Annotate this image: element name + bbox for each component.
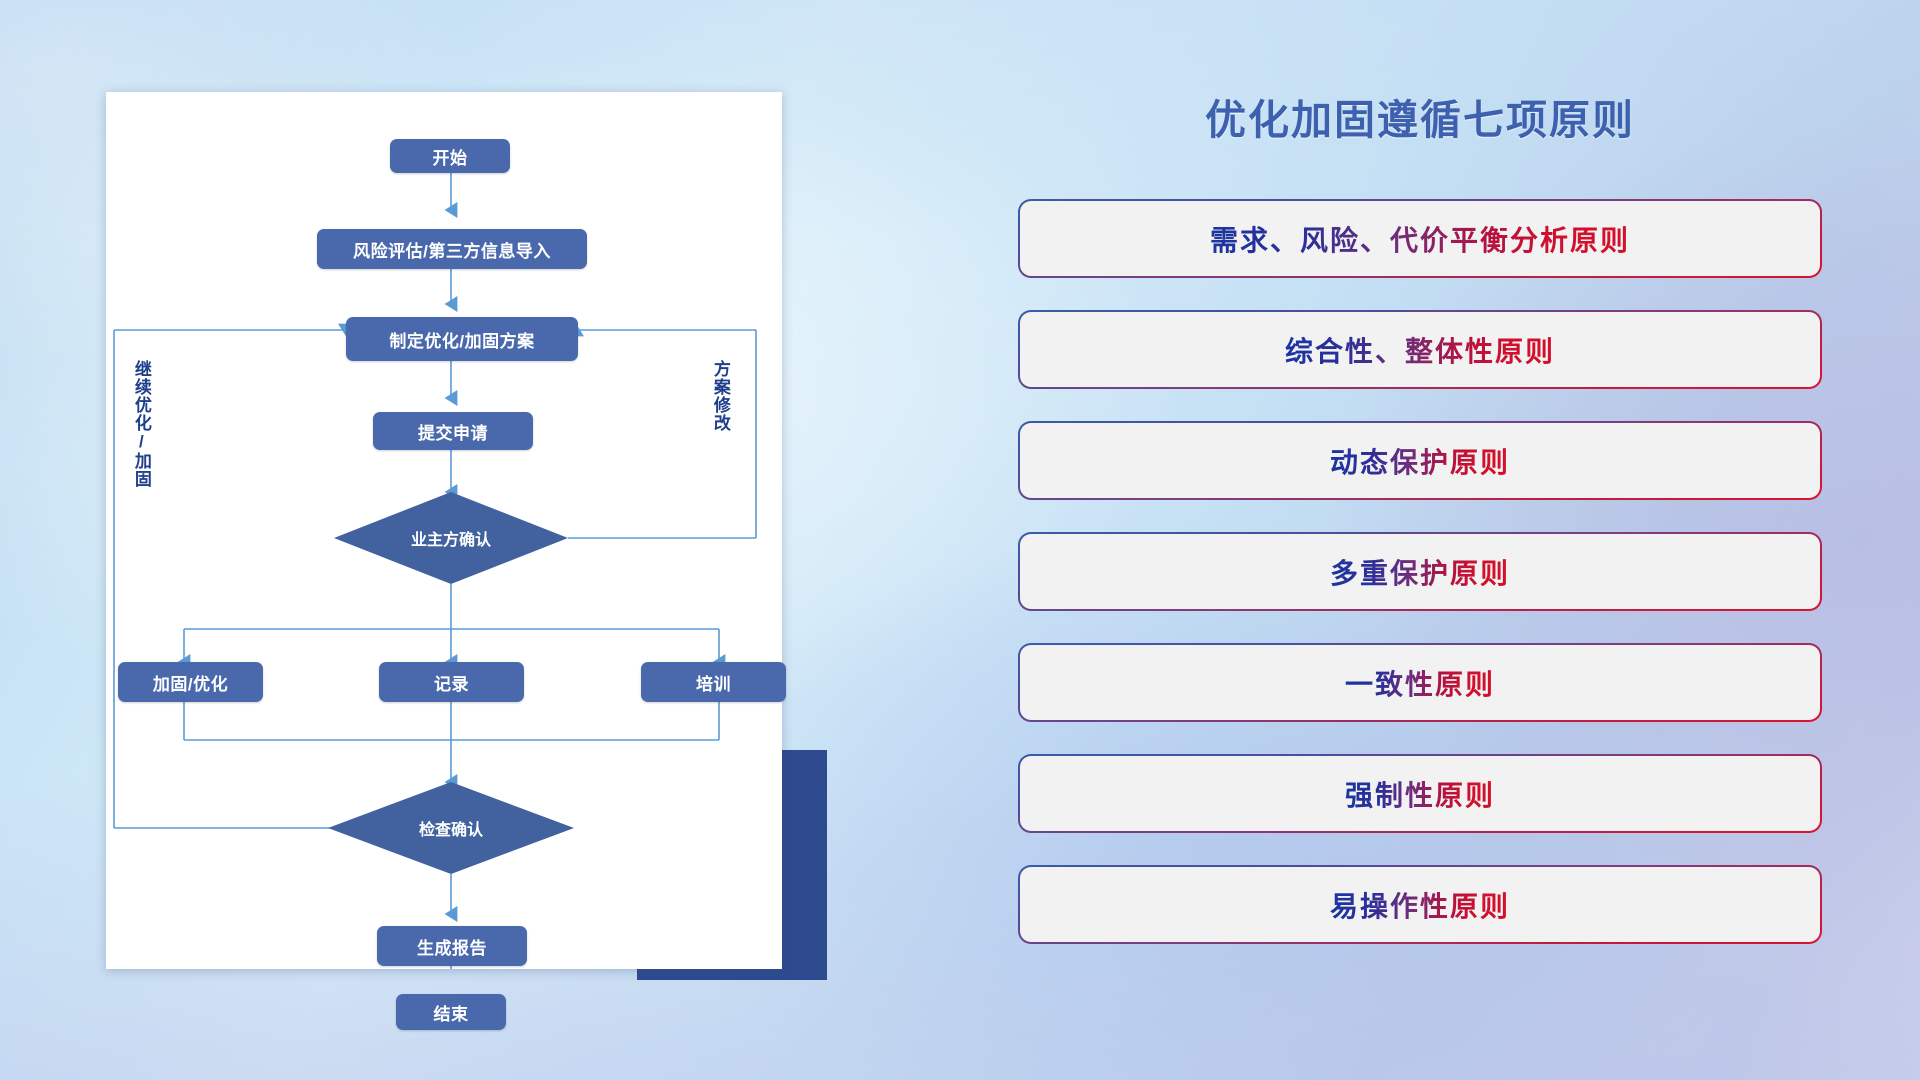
principle-item-body: 易操作性原则 bbox=[1020, 867, 1820, 942]
principle-item-body: 强制性原则 bbox=[1020, 756, 1820, 831]
flow-node-training[interactable]: 培训 bbox=[641, 662, 786, 702]
panel-title: 优化加固遵循七项原则 bbox=[1020, 96, 1820, 145]
flow-node-owner-confirm[interactable]: 业主方确认 bbox=[371, 522, 531, 554]
principle-item-1[interactable]: 需求、风险、代价平衡分析原则 bbox=[1020, 201, 1820, 276]
principle-item-3[interactable]: 动态保护原则 bbox=[1020, 423, 1820, 498]
principle-item-body: 动态保护原则 bbox=[1020, 423, 1820, 498]
flow-node-risk-assessment[interactable]: 风险评估/第三方信息导入 bbox=[317, 229, 587, 269]
flow-node-plan[interactable]: 制定优化/加固方案 bbox=[346, 317, 578, 361]
flow-node-submit-application[interactable]: 提交申请 bbox=[373, 412, 533, 450]
principles-panel: 优化加固遵循七项原则 需求、风险、代价平衡分析原则 综合性、整体性原则 动态保护… bbox=[1020, 96, 1820, 978]
flow-node-reinforce[interactable]: 加固/优化 bbox=[118, 662, 263, 702]
principle-item-2[interactable]: 综合性、整体性原则 bbox=[1020, 312, 1820, 387]
principle-item-6[interactable]: 强制性原则 bbox=[1020, 756, 1820, 831]
principle-item-label: 易操作性原则 bbox=[1330, 885, 1510, 925]
principle-item-7[interactable]: 易操作性原则 bbox=[1020, 867, 1820, 942]
flowchart-card: 开始 风险评估/第三方信息导入 制定优化/加固方案 提交申请 业主方确认 加固/… bbox=[106, 92, 782, 969]
principle-item-body: 综合性、整体性原则 bbox=[1020, 312, 1820, 387]
flow-edge-label-continue-optimize: 继续优化/加固 bbox=[132, 360, 150, 540]
flow-node-end[interactable]: 结束 bbox=[396, 994, 506, 1030]
flow-node-record[interactable]: 记录 bbox=[379, 662, 524, 702]
principle-item-label: 一致性原则 bbox=[1345, 663, 1495, 703]
principle-item-5[interactable]: 一致性原则 bbox=[1020, 645, 1820, 720]
principle-item-body: 多重保护原则 bbox=[1020, 534, 1820, 609]
principle-item-body: 需求、风险、代价平衡分析原则 bbox=[1020, 201, 1820, 276]
principle-item-label: 多重保护原则 bbox=[1330, 552, 1510, 592]
principle-item-label: 综合性、整体性原则 bbox=[1285, 330, 1555, 370]
flowchart-canvas: 开始 风险评估/第三方信息导入 制定优化/加固方案 提交申请 业主方确认 加固/… bbox=[106, 92, 782, 969]
principle-item-body: 一致性原则 bbox=[1020, 645, 1820, 720]
principle-item-4[interactable]: 多重保护原则 bbox=[1020, 534, 1820, 609]
flow-node-generate-report[interactable]: 生成报告 bbox=[377, 926, 527, 966]
flow-edge-label-plan-revision: 方案修改 bbox=[711, 360, 729, 490]
principle-item-label: 需求、风险、代价平衡分析原则 bbox=[1210, 219, 1630, 259]
flow-node-check-confirm[interactable]: 检查确认 bbox=[371, 812, 531, 844]
principle-item-label: 动态保护原则 bbox=[1330, 441, 1510, 481]
principle-item-label: 强制性原则 bbox=[1345, 774, 1495, 814]
flow-node-start[interactable]: 开始 bbox=[390, 139, 510, 173]
